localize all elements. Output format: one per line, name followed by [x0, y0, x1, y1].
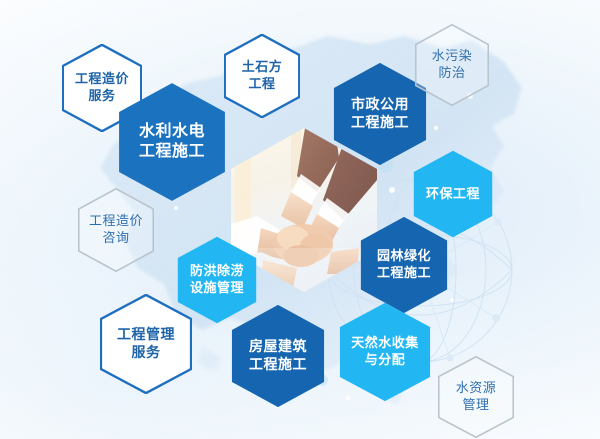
- hexagon-badge-fangwu-jianzhu-gongcheng-shigong[interactable]: 房屋建筑 工程施工: [231, 304, 325, 408]
- hexagon-badge-gongcheng-zaojia-zixun[interactable]: 工程造价 咨询: [78, 188, 154, 272]
- hexagon-label: 土石方 工程: [238, 59, 287, 92]
- hexagon-label: 房屋建筑 工程施工: [245, 338, 311, 374]
- hexagon-label: 工程造价 服务: [71, 71, 133, 104]
- hexagon-badge-tushifang-gongcheng[interactable]: 土石方 工程: [224, 34, 300, 118]
- hexagon-badge-shuili-shuidian-gongcheng-shigong[interactable]: 水利水电 工程施工: [118, 82, 226, 202]
- hexagon-badge-shuiziyuan-guanli[interactable]: 水资源 管理: [438, 356, 514, 438]
- hexagon-badge-shuiwuran-fangzhi[interactable]: 水污染 防治: [415, 24, 489, 106]
- hexagon-label: 工程造价 咨询: [85, 213, 147, 246]
- hexagon-badge-gongcheng-guanli-fuwu[interactable]: 工程管理 服务: [100, 294, 192, 394]
- hexagon-label: 水利水电 工程施工: [135, 122, 209, 163]
- infographic-canvas: 工程造价 服务土石方 工程水利水电 工程施工市政公用 工程施工水污染 防治环保工…: [0, 0, 600, 439]
- hexagon-label: 防洪除涝 设施管理: [186, 263, 248, 296]
- hexagon-label: 天然水收集 与分配: [347, 335, 423, 368]
- hexagon-label: 水污染 防治: [428, 48, 477, 81]
- hexagon-label: 市政公用 工程施工: [347, 96, 413, 132]
- hexagon-label: 水资源 管理: [452, 380, 501, 413]
- hexagon-label: 园林绿化 工程施工: [373, 248, 435, 281]
- hexagon-badge-yuanlin-lvhua-gongcheng-shigong[interactable]: 园林绿化 工程施工: [360, 216, 448, 314]
- hexagon-label: 工程管理 服务: [113, 326, 179, 362]
- hexagon-label: 环保工程: [422, 186, 484, 203]
- hexagon-badge-tianranshui-shouji-yu-fenpei[interactable]: 天然水收集 与分配: [339, 302, 431, 402]
